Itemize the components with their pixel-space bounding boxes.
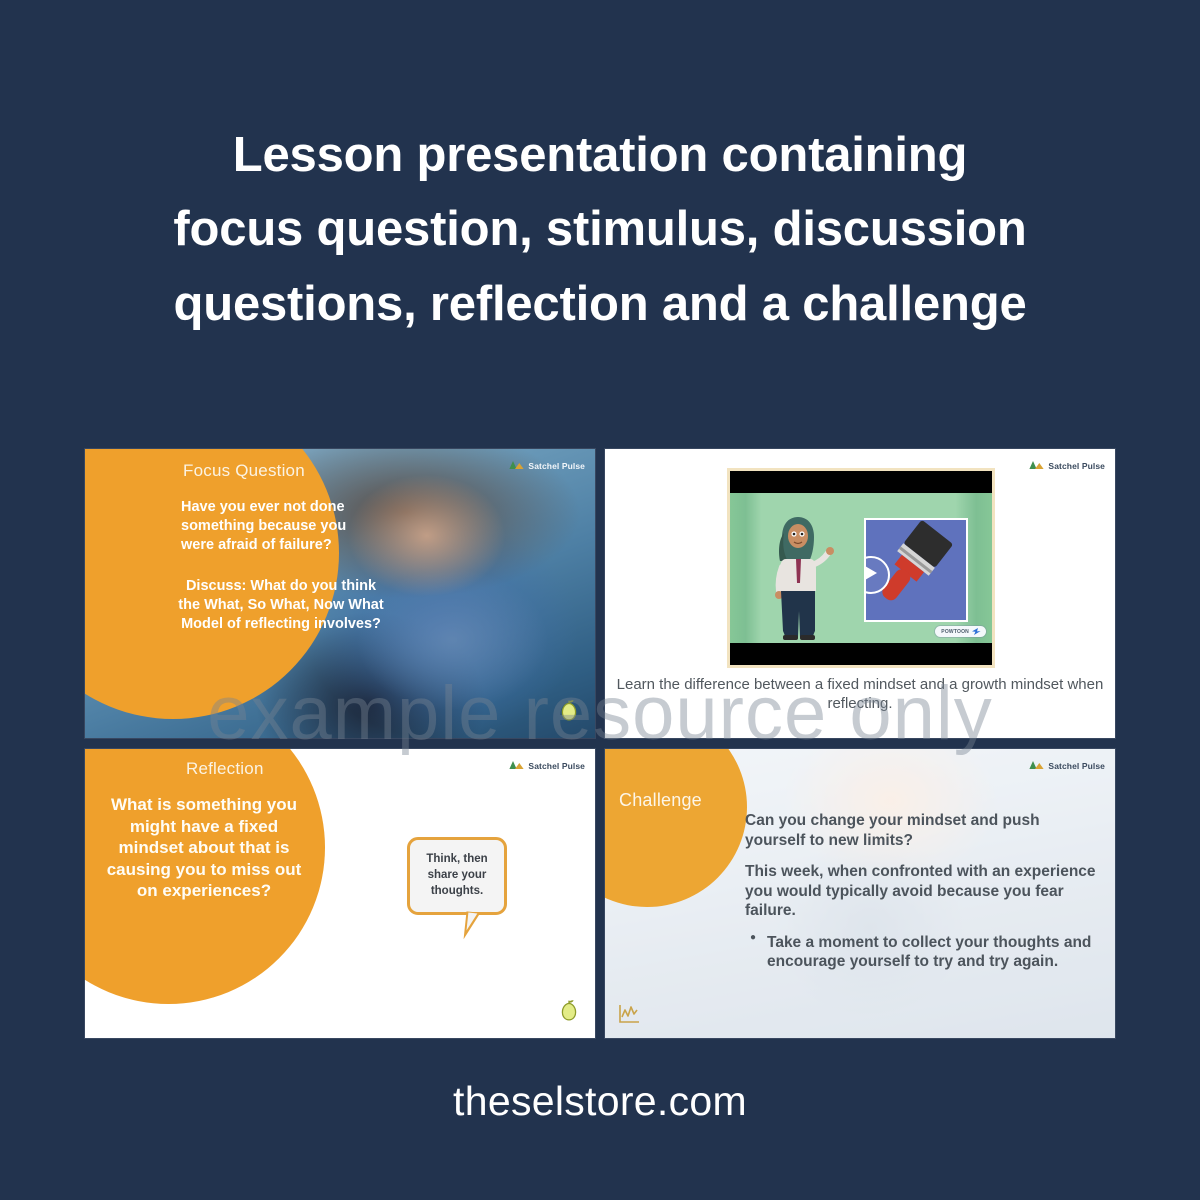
satchel-pulse-logo: Satchel Pulse (509, 757, 585, 775)
slide-focus-question[interactable]: Satchel Pulse Focus Question Have you ev… (85, 449, 595, 738)
slide-challenge[interactable]: Satchel Pulse Challenge Can you change y… (605, 749, 1115, 1038)
pear-icon (559, 699, 579, 728)
slide-stimulus-video[interactable]: Satchel Pulse (605, 449, 1115, 738)
two-triangles-icon (509, 457, 524, 475)
slide-challenge-body: Can you change your mindset and push you… (745, 811, 1099, 972)
satchel-pulse-logo: Satchel Pulse (509, 457, 585, 475)
powtoon-badge: POWTOON (935, 626, 986, 637)
speech-bubble-tail (464, 911, 481, 940)
slide-kicker-reflection: Reflection (186, 759, 264, 779)
satchel-pulse-logo-text: Satchel Pulse (528, 461, 585, 471)
challenge-paragraph-1: Can you change your mindset and push you… (745, 811, 1099, 850)
slide-focus-question-text: Have you ever not done something because… (181, 498, 381, 555)
pear-icon (559, 999, 579, 1028)
challenge-paragraph-2: This week, when confronted with an exper… (745, 862, 1099, 921)
speech-bubble: Think, then share your thoughts. (407, 837, 507, 915)
video-inner-image-paintbrush (864, 518, 968, 622)
satchel-pulse-logo-text: Satchel Pulse (1048, 461, 1105, 471)
footer-url: theselstore.com (0, 1078, 1200, 1125)
cartoon-teacher-illustration (764, 503, 836, 643)
powtoon-badge-text: POWTOON (941, 629, 969, 635)
line-chart-icon (617, 1003, 641, 1030)
two-triangles-icon (1029, 757, 1044, 775)
video-stage: POWTOON (730, 493, 992, 643)
slide-reflection[interactable]: Satchel Pulse Reflection What is somethi… (85, 749, 595, 1038)
slide-kicker-challenge: Challenge (619, 790, 702, 811)
page-title-line-1: Lesson presentation containing (70, 118, 1130, 192)
two-triangles-icon (1029, 457, 1044, 475)
slide-kicker-focus-question: Focus Question (183, 461, 305, 481)
challenge-bullet-item: Take a moment to collect your thoughts a… (767, 933, 1099, 972)
slide-reflection-question: What is something you might have a fixed… (99, 794, 309, 902)
satchel-pulse-logo: Satchel Pulse (1029, 757, 1105, 775)
video-letterbox-bottom (730, 643, 992, 665)
page-title-line-2: focus question, stimulus, discussion (70, 192, 1130, 266)
video-thumbnail[interactable]: POWTOON (727, 468, 995, 668)
page-title: Lesson presentation containing focus que… (0, 118, 1200, 341)
slide-gallery: Satchel Pulse Focus Question Have you ev… (85, 449, 1115, 1038)
speech-bubble-text: Think, then share your thoughts. (410, 840, 504, 912)
slide-stimulus-caption: Learn the difference between a fixed min… (613, 675, 1107, 713)
satchel-pulse-logo-text: Satchel Pulse (1048, 761, 1105, 771)
video-letterbox-top (730, 471, 992, 493)
slide-focus-discuss-text: Discuss: What do you think the What, So … (175, 577, 387, 634)
satchel-pulse-logo: Satchel Pulse (1029, 457, 1105, 475)
challenge-bullet-list: Take a moment to collect your thoughts a… (745, 933, 1099, 972)
satchel-pulse-logo-text: Satchel Pulse (528, 761, 585, 771)
page-title-line-3: questions, reflection and a challenge (70, 267, 1130, 341)
two-triangles-icon (509, 757, 524, 775)
